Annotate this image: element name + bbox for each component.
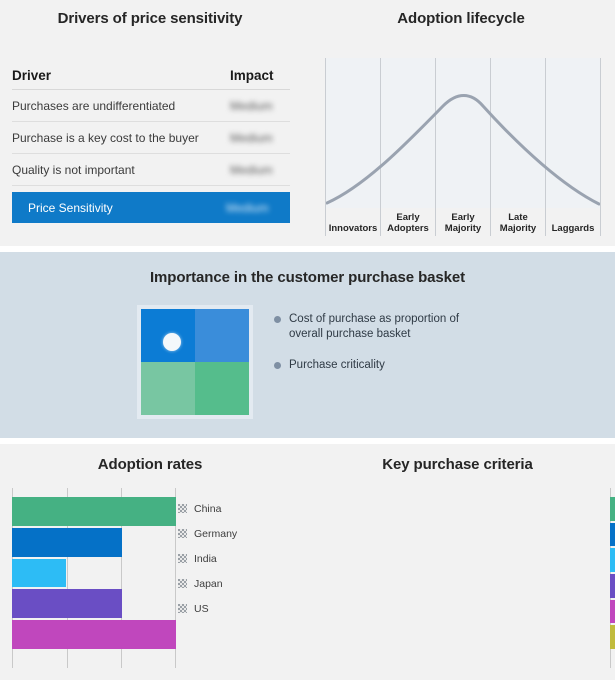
driver-label: Price Sensitivity — [28, 201, 113, 215]
bar-india[interactable] — [12, 559, 66, 588]
legend-item[interactable]: Japan — [178, 571, 237, 596]
lifecycle-stage-innovators: Innovators — [325, 200, 380, 236]
table-row[interactable]: Purchases are undifferentiated Medium — [12, 90, 290, 122]
bar-track — [12, 528, 176, 557]
driver-label: Purchases are undifferentiated — [12, 99, 175, 113]
table-row[interactable]: Purchase is a key cost to the buyer Medi… — [12, 122, 290, 154]
impact-value: Medium — [230, 163, 286, 177]
driver-label: Quality is not important — [12, 163, 135, 177]
lifecycle-bell-curve — [327, 96, 599, 205]
adoption-rates-title: Adoption rates — [0, 456, 300, 473]
purchase-basket-panel: Importance in the customer purchase bask… — [0, 252, 615, 438]
purchase-criteria-bars — [610, 496, 615, 650]
matrix-frame — [137, 305, 253, 419]
matrix-position-marker-dot — [163, 333, 181, 351]
adoption-rates-plot — [12, 488, 176, 668]
adoption-rates-chart-area — [12, 488, 176, 668]
stage-line-2: Majority — [500, 223, 536, 234]
bar-track — [12, 620, 176, 649]
infographic-page: Drivers of price sensitivity Driver Impa… — [0, 0, 615, 680]
impact-value: Medium — [230, 131, 286, 145]
legend-label: China — [194, 503, 221, 515]
stage-line-2: Innovators — [329, 223, 378, 234]
lifecycle-stage-laggards: Laggards — [545, 200, 601, 236]
bar-track — [610, 600, 615, 624]
stage-line-2: Majority — [445, 223, 481, 234]
list-item: Cost of purchase as proportion of overal… — [274, 312, 594, 342]
stage-line-1: Early — [396, 212, 419, 223]
table-header-row: Driver Impact — [12, 62, 290, 90]
legend-swatch-icon — [178, 554, 187, 563]
legend-label: India — [194, 553, 217, 565]
bar-regulatory-compliance[interactable] — [610, 600, 615, 624]
matrix-quadrant-top-right[interactable] — [195, 309, 249, 362]
bar-track — [610, 574, 615, 598]
bar-us[interactable] — [12, 620, 176, 649]
list-item: Purchase criticality — [274, 358, 594, 373]
bar-track — [610, 548, 615, 572]
lifecycle-panel-title: Adoption lifecycle — [307, 10, 615, 27]
bar-track — [12, 589, 176, 618]
drivers-table: Driver Impact Purchases are undifferenti… — [12, 62, 290, 223]
legend-label: Japan — [194, 578, 223, 590]
bar-track — [610, 523, 615, 547]
legend-item[interactable]: US — [178, 596, 237, 621]
lifecycle-chart-svg — [325, 58, 601, 208]
legend-swatch-icon — [178, 529, 187, 538]
adoption-rates-bars — [12, 496, 176, 650]
two-by-two-matrix[interactable] — [141, 309, 249, 415]
key-purchase-criteria-title: Key purchase criteria — [300, 456, 615, 473]
bar-japan[interactable] — [12, 589, 122, 618]
bar-germany[interactable] — [12, 528, 122, 557]
lifecycle-gridlines — [326, 58, 601, 208]
basket-legend-label: Purchase criticality — [289, 358, 385, 373]
lifecycle-stage-early-adopters: EarlyAdopters — [380, 200, 435, 236]
table-row[interactable]: Quality is not important Medium — [12, 154, 290, 186]
stage-line-2: Adopters — [387, 223, 429, 234]
bar-quality[interactable] — [610, 548, 615, 572]
adoption-rates-legend: China Germany India Japan US — [178, 496, 237, 621]
lifecycle-plot-area — [325, 58, 601, 208]
bar-innovation[interactable] — [610, 497, 615, 521]
matrix-quadrant-bottom-right[interactable] — [195, 362, 249, 415]
basket-panel-title: Importance in the customer purchase bask… — [0, 269, 615, 286]
key-purchase-criteria-panel: Key purchase criteria Inn — [300, 444, 615, 680]
stage-line-2: Laggards — [552, 223, 595, 234]
bar-service[interactable] — [610, 625, 615, 649]
adoption-rates-panel: Adoption rates China — [0, 444, 300, 680]
legend-swatch-icon — [178, 504, 187, 513]
purchase-criteria-plot — [610, 488, 615, 668]
matrix-quadrant-bottom-left[interactable] — [141, 362, 195, 415]
legend-label: Germany — [194, 528, 237, 540]
driver-label: Purchase is a key cost to the buyer — [12, 131, 199, 145]
bar-track — [610, 625, 615, 649]
legend-item[interactable]: Germany — [178, 521, 237, 546]
table-row-highlighted-price-sensitivity[interactable]: Price Sensitivity Medium — [12, 192, 290, 223]
purchase-criteria-chart-area — [610, 488, 615, 668]
bar-china[interactable] — [12, 497, 176, 526]
basket-legend-label: Cost of purchase as proportion of overal… — [289, 312, 489, 342]
legend-swatch-icon — [178, 604, 187, 613]
bullet-icon — [274, 316, 281, 323]
bullet-icon — [274, 362, 281, 369]
column-header-impact: Impact — [230, 68, 286, 83]
basket-legend: Cost of purchase as proportion of overal… — [274, 312, 594, 389]
legend-item[interactable]: China — [178, 496, 237, 521]
legend-label: US — [194, 603, 209, 615]
legend-item[interactable]: India — [178, 546, 237, 571]
stage-line-1: Late — [508, 212, 528, 223]
drivers-of-price-sensitivity-panel: Drivers of price sensitivity Driver Impa… — [0, 0, 300, 246]
bar-track — [610, 497, 615, 521]
bar-track — [12, 497, 176, 526]
bar-price[interactable] — [610, 523, 615, 547]
adoption-lifecycle-panel: Adoption lifecycle Innovators EarlyAdop — [307, 0, 615, 246]
lifecycle-axis-labels: Innovators EarlyAdopters EarlyMajority L… — [325, 200, 601, 236]
drivers-panel-title: Drivers of price sensitivity — [0, 10, 300, 27]
column-header-driver: Driver — [12, 68, 51, 83]
stage-line-1: Early — [451, 212, 474, 223]
impact-value: Medium — [226, 201, 282, 215]
legend-swatch-icon — [178, 579, 187, 588]
bar-track — [12, 559, 176, 588]
lifecycle-stage-early-majority: EarlyMajority — [435, 200, 490, 236]
impact-value: Medium — [230, 99, 286, 113]
bar-relatability[interactable] — [610, 574, 615, 598]
lifecycle-stage-late-majority: LateMajority — [490, 200, 545, 236]
